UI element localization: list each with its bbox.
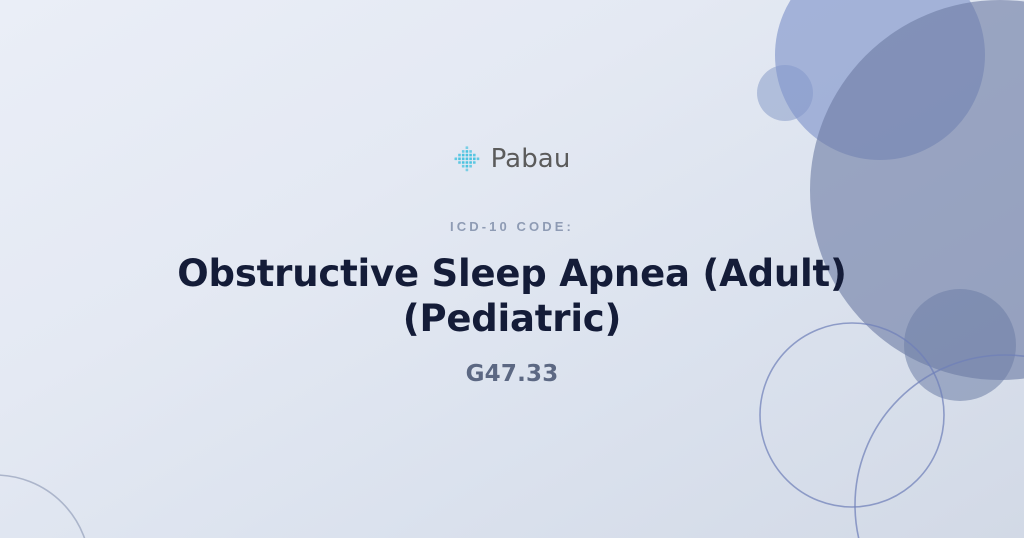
pabau-diamond-logo-icon (454, 145, 482, 173)
card-content: Pabau ICD-10 CODE: Obstructive Sleep Apn… (0, 0, 1024, 538)
icd-code-card: Pabau ICD-10 CODE: Obstructive Sleep Apn… (0, 0, 1024, 538)
brand-wordmark: Pabau (491, 146, 571, 172)
eyebrow-label: ICD-10 CODE: (450, 219, 574, 234)
icd-code-value: G47.33 (466, 361, 559, 387)
brand-lockup: Pabau (454, 145, 571, 173)
page-title: Obstructive Sleep Apnea (Adult) (Pediatr… (132, 251, 892, 341)
